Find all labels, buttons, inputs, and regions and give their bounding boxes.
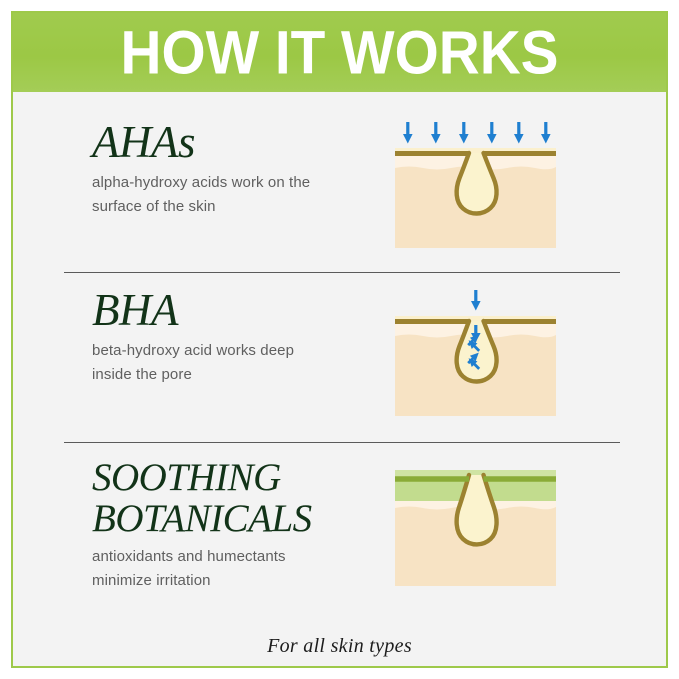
infographic-card: HOW IT WORKS AHAs alpha-hydroxy acids wo… bbox=[11, 11, 668, 668]
section-ahas-heading: AHAs bbox=[92, 120, 382, 165]
illustration-soothing-botanicals bbox=[395, 458, 556, 586]
section-bha-heading: BHA bbox=[92, 288, 382, 333]
section-divider-1 bbox=[64, 272, 620, 273]
skin-cross-section-botanical-layer-icon bbox=[395, 458, 556, 586]
page-title: HOW IT WORKS bbox=[36, 22, 643, 83]
section-soothing-botanicals-text: SOOTHING BOTANICALS antioxidants and hum… bbox=[92, 458, 382, 592]
section-soothing-botanicals: SOOTHING BOTANICALS antioxidants and hum… bbox=[13, 458, 666, 618]
skin-cross-section-pore-arrows-icon bbox=[395, 288, 556, 416]
section-bha-description: beta-hydroxy acid works deep inside the … bbox=[92, 339, 382, 386]
section-ahas-text: AHAs alpha-hydroxy acids work on the sur… bbox=[92, 120, 382, 218]
content-area: AHAs alpha-hydroxy acids work on the sur… bbox=[13, 92, 666, 666]
section-soothing-botanicals-heading: SOOTHING BOTANICALS bbox=[92, 458, 382, 539]
skin-cross-section-surface-arrows-icon bbox=[395, 120, 556, 248]
section-divider-2 bbox=[64, 442, 620, 443]
illustration-bha bbox=[395, 288, 556, 416]
section-bha: BHA beta-hydroxy acid works deep inside … bbox=[13, 288, 666, 436]
footer-note: For all skin types bbox=[13, 635, 666, 658]
how-it-works-infographic: HOW IT WORKS AHAs alpha-hydroxy acids wo… bbox=[0, 0, 679, 679]
header-banner: HOW IT WORKS bbox=[13, 13, 666, 92]
section-ahas-description: alpha-hydroxy acids work on the surface … bbox=[92, 171, 382, 218]
section-ahas: AHAs alpha-hydroxy acids work on the sur… bbox=[13, 120, 666, 268]
section-bha-text: BHA beta-hydroxy acid works deep inside … bbox=[92, 288, 382, 386]
illustration-ahas bbox=[395, 120, 556, 248]
section-soothing-botanicals-description: antioxidants and humectants minimize irr… bbox=[92, 545, 382, 592]
